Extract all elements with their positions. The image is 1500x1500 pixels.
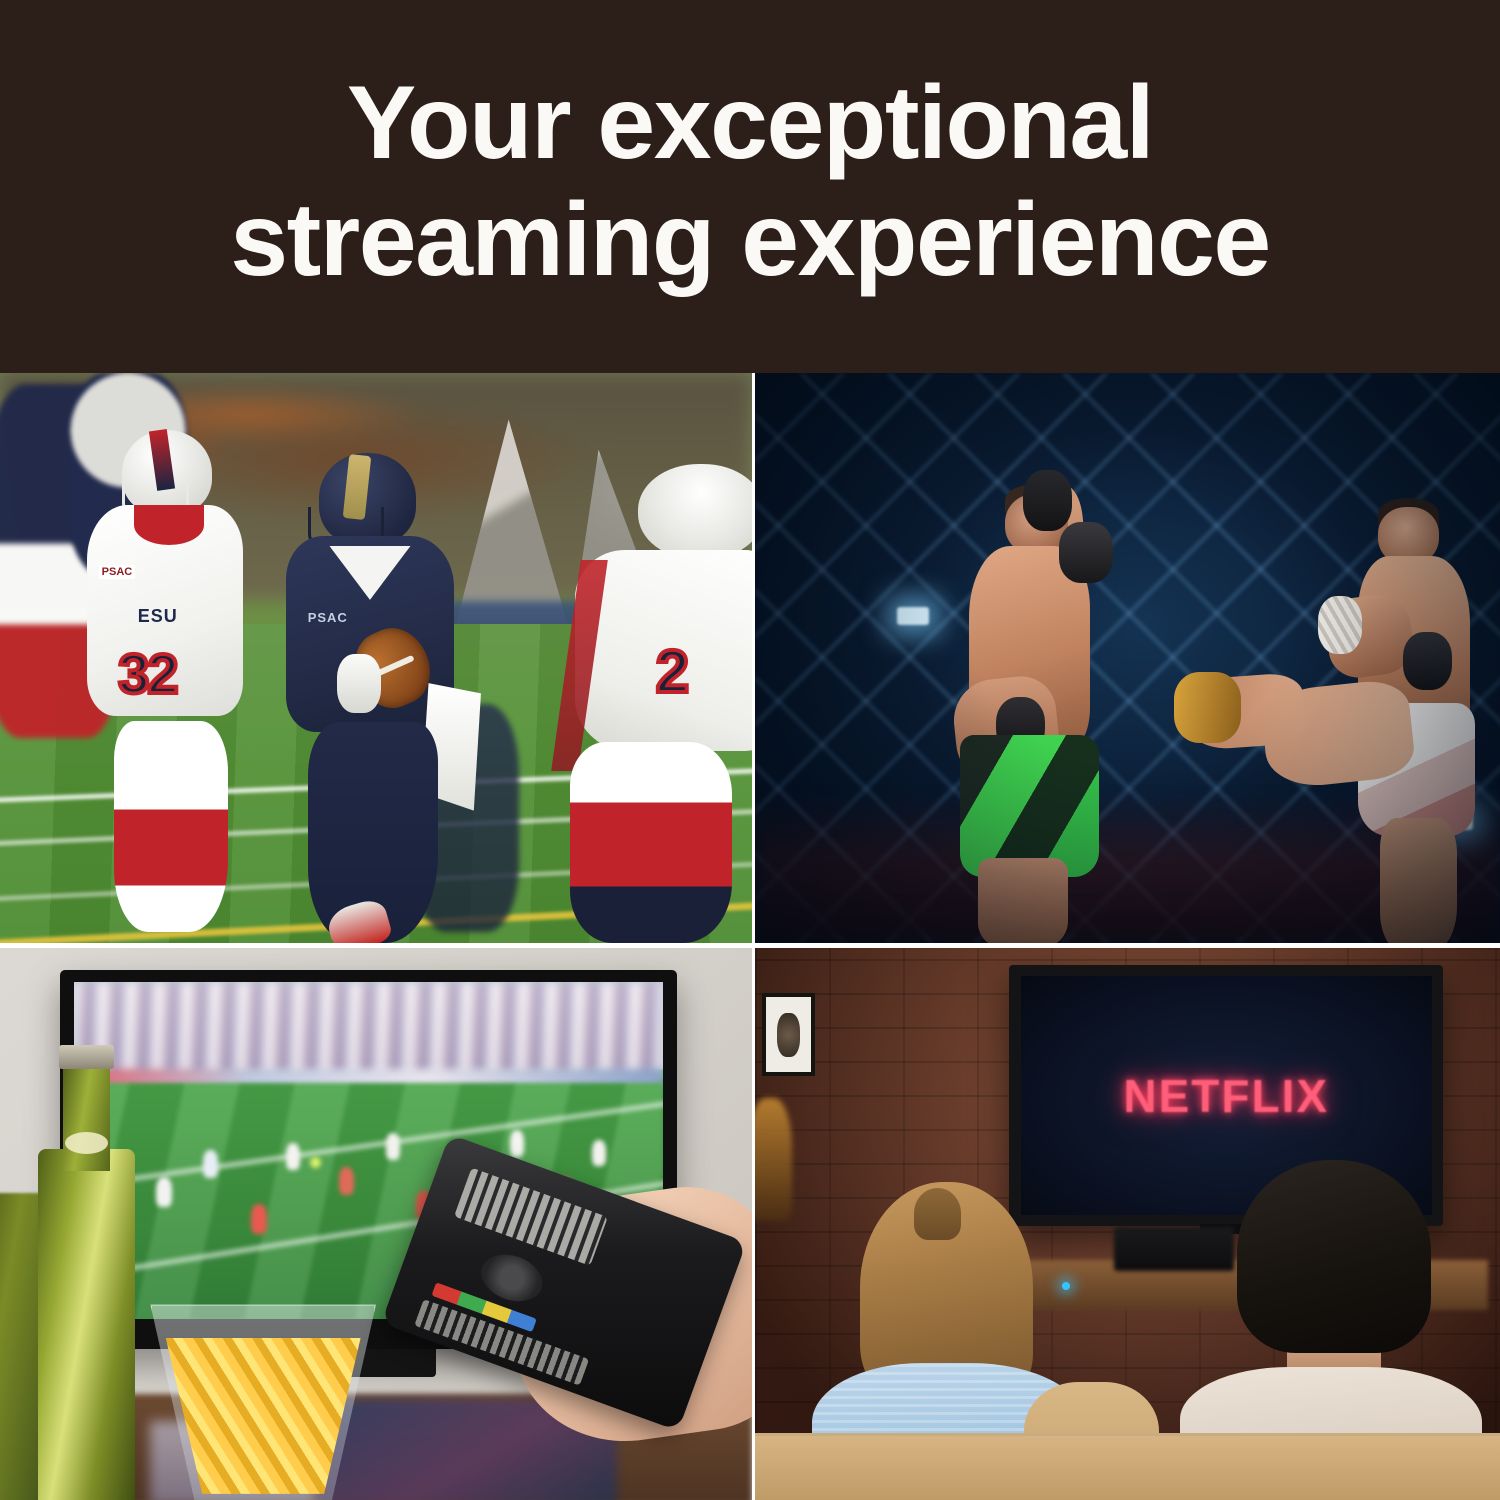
tv-player <box>510 1130 524 1157</box>
tv-player <box>286 1143 300 1170</box>
image-gallery-grid: PSAC ESU 32 PSAC <box>0 373 1500 1500</box>
ball-carrier-player: PSAC <box>248 453 519 943</box>
hair <box>1237 1160 1432 1353</box>
promo-header: Your exceptional streaming experience <box>0 0 1500 373</box>
vignette <box>755 373 1500 943</box>
jersey-number: 2 <box>656 637 689 706</box>
tv-player <box>156 1177 172 1207</box>
remote-keypad[interactable] <box>454 1167 608 1266</box>
beer-foam <box>65 1132 109 1154</box>
tile-living-room-sports <box>0 948 752 1500</box>
beer-bottle-neck <box>63 1059 110 1170</box>
beer-bottle-cap <box>59 1045 115 1068</box>
tv-player <box>251 1204 267 1234</box>
jersey-number: 32 <box>118 641 176 706</box>
table-lamp <box>755 1098 792 1221</box>
helmet <box>638 464 752 560</box>
tile-netflix-couple: NETFLIX <box>755 948 1500 1500</box>
legs <box>570 742 732 943</box>
stadium-crowd <box>74 982 663 1080</box>
netflix-logo: NETFLIX <box>1123 1069 1329 1123</box>
beer-bottle <box>38 1149 136 1500</box>
tv-player <box>386 1133 400 1160</box>
hair-tie <box>914 1188 962 1240</box>
couch-back <box>755 1433 1500 1500</box>
tv-player <box>592 1140 606 1166</box>
school-wordmark: ESU <box>138 606 178 627</box>
streaming-promo-card: Your exceptional streaming experience <box>0 0 1500 1500</box>
defender-player-32: PSAC ESU 32 <box>75 430 271 932</box>
legs <box>114 721 227 932</box>
psac-wordmark: PSAC <box>308 610 362 635</box>
picture-frame <box>762 993 814 1077</box>
page-title: Your exceptional streaming experience <box>230 65 1269 298</box>
soccer-ball <box>310 1157 321 1168</box>
tv-player <box>339 1167 354 1195</box>
tv-remote[interactable] <box>381 1134 746 1430</box>
tile-mma <box>755 373 1500 943</box>
glove <box>337 654 380 713</box>
tv-player <box>203 1150 218 1178</box>
defender-player-right: 2 <box>556 464 752 943</box>
tile-football: PSAC ESU 32 PSAC <box>0 373 752 943</box>
psac-patch: PSAC <box>99 565 136 579</box>
